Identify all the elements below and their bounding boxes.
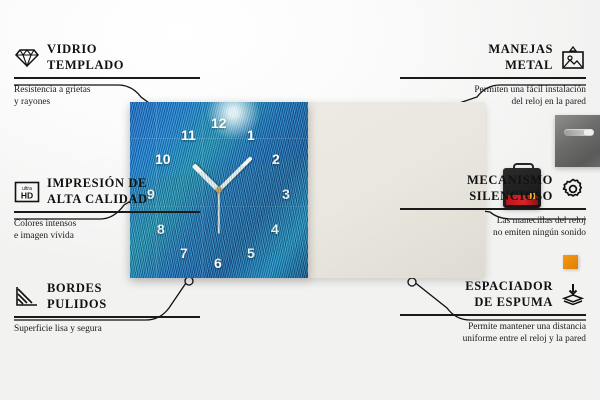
callout-title-line1: MANEJAS — [488, 42, 553, 58]
gear-icon — [560, 177, 586, 201]
divider — [400, 77, 586, 78]
callout-desc-line2: y rayones — [14, 96, 200, 109]
foam-spacer — [563, 255, 578, 269]
callout-title-line2: PULIDOS — [47, 297, 107, 313]
hanging-frame-icon — [560, 46, 586, 70]
divider — [400, 208, 586, 209]
clock-number: 7 — [180, 246, 188, 260]
divider — [14, 77, 200, 78]
infographic-canvas: 12 1 2 3 4 5 6 7 8 9 10 11 VIDRIO TEMPLA — [0, 0, 600, 400]
ultra-hd-icon: ultraHD — [14, 180, 40, 204]
center-pin — [216, 187, 222, 193]
callout-bordes-pulidos: BORDES PULIDOS Superficie lisa y segura — [14, 281, 200, 335]
clock-number: 1 — [247, 128, 255, 142]
clock-number: 4 — [271, 222, 279, 236]
callout-desc-line1: Las manecillas del reloj — [400, 215, 586, 228]
callout-espaciador-espuma: ESPACIADOR DE ESPUMA Permite mantener un… — [400, 279, 586, 346]
callout-vidrio-templado: VIDRIO TEMPLADO Resistencia a grietas y … — [14, 42, 200, 109]
callout-title-line2: SILENCIOSO — [467, 189, 553, 205]
callout-title-line2: ALTA CALIDAD — [47, 192, 148, 208]
callout-manejas-metal: MANEJAS METAL Permiten una fácil instala… — [400, 42, 586, 109]
clock-number: 2 — [272, 152, 280, 166]
callout-impresion-alta-calidad: ultraHD IMPRESIÓN DE ALTA CALIDAD Colore… — [14, 176, 200, 243]
callout-title-line1: ESPACIADOR — [465, 279, 553, 295]
callout-title-line1: VIDRIO — [47, 42, 124, 58]
clock-number: 6 — [214, 256, 222, 270]
clock-number: 11 — [181, 128, 196, 142]
callout-desc-line1: Permite mantener una distancia — [400, 321, 586, 334]
callout-desc-line2: del reloj en la pared — [400, 96, 586, 109]
divider — [14, 316, 200, 317]
callout-title-line1: MECANISMO — [467, 173, 553, 189]
callout-mecanismo-silencioso: MECANISMO SILENCIOSO Las manecillas del … — [400, 173, 586, 240]
callout-title-line2: DE ESPUMA — [465, 295, 553, 311]
clock-number: 12 — [211, 116, 227, 130]
callout-desc-line1: Superficie lisa y segura — [14, 323, 200, 336]
callout-desc-line2: e imagen vívida — [14, 230, 200, 243]
callout-desc-line2: no emiten ningún sonido — [400, 227, 586, 240]
callout-desc-line1: Resistencia a grietas — [14, 84, 200, 97]
callout-desc-line1: Colores intensos — [14, 218, 200, 231]
second-hand — [218, 190, 220, 234]
callout-title-line2: METAL — [488, 58, 553, 74]
metal-hanger-icon — [555, 115, 600, 167]
divider — [400, 314, 586, 315]
callout-title-line1: BORDES — [47, 281, 107, 297]
callout-title-line2: TEMPLADO — [47, 58, 124, 74]
clock-number: 3 — [282, 187, 290, 201]
polished-edges-icon — [14, 285, 40, 309]
foam-spacer-icon — [560, 283, 586, 307]
callout-desc-line2: uniforme entre el reloj y la pared — [400, 333, 586, 346]
minute-hand — [218, 156, 253, 191]
divider — [14, 211, 200, 212]
diamond-icon — [14, 46, 40, 70]
svg-text:HD: HD — [21, 190, 33, 200]
clock-number: 5 — [247, 246, 255, 260]
callout-desc-line1: Permiten una fácil instalación — [400, 84, 586, 97]
clock-number: 10 — [155, 152, 171, 166]
callout-title-line1: IMPRESIÓN DE — [47, 176, 148, 192]
